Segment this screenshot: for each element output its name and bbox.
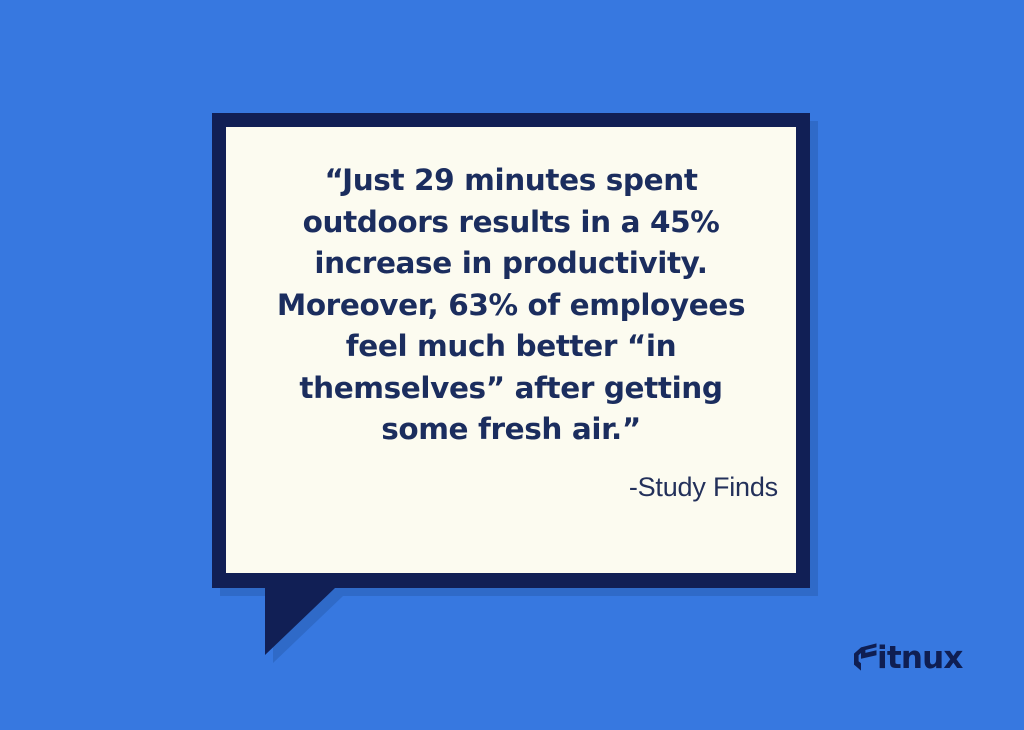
quote-text: “Just 29 minutes spent outdoors results …	[246, 160, 776, 460]
quote-card: “Just 29 minutes spent outdoors results …	[0, 0, 1024, 730]
quote-line: “Just 29 minutes spent	[324, 160, 697, 202]
quote-line: themselves” after getting	[299, 368, 722, 410]
quote-line: increase in productivity.	[314, 243, 707, 285]
quote-line: Moreover, 63% of employees	[277, 285, 745, 327]
gitnux-logo: itnux	[852, 640, 963, 674]
gitnux-g-icon	[852, 642, 878, 672]
quote-line: some fresh air.”	[381, 409, 641, 451]
quote-line: outdoors results in a 45%	[303, 202, 720, 244]
quote-line: feel much better “in	[346, 326, 676, 368]
quote-attribution: -Study Finds	[246, 472, 778, 503]
gitnux-wordmark: itnux	[877, 643, 963, 674]
